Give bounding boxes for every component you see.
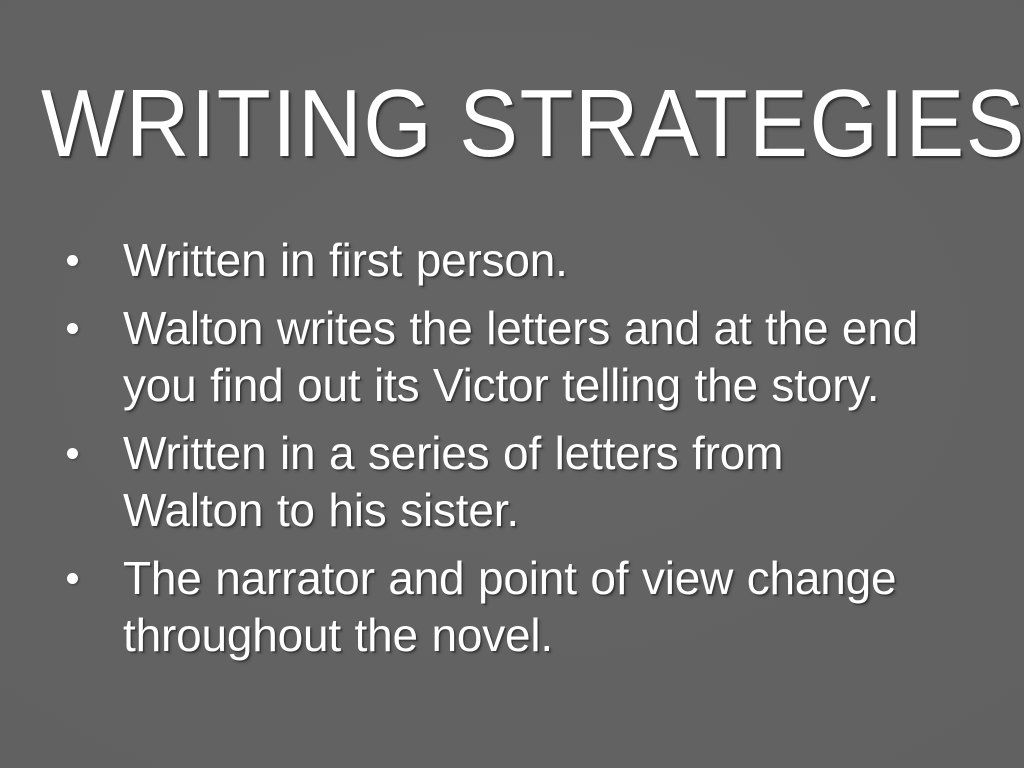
- page-title: WRITING STRATEGIES: [41, 68, 983, 180]
- presentation-slide: WRITING STRATEGIES Written in first pers…: [0, 0, 1024, 768]
- list-item-text: Written in a series of letters from Walt…: [123, 425, 923, 539]
- list-item: Written in first person.: [60, 232, 923, 289]
- bullet-point-icon: [67, 448, 78, 459]
- bullet-point-icon: [67, 323, 78, 334]
- bullet-point-icon: [67, 573, 78, 584]
- list-item: Walton writes the letters and at the end…: [60, 300, 923, 414]
- list-item-text: The narrator and point of view change th…: [123, 550, 923, 664]
- list-item-text: Walton writes the letters and at the end…: [123, 300, 923, 414]
- bullet-point-icon: [67, 255, 78, 266]
- list-item-text: Written in first person.: [123, 232, 923, 289]
- bullet-list: Written in first person. Walton writes t…: [60, 232, 950, 664]
- list-item: The narrator and point of view change th…: [60, 550, 923, 664]
- list-item: Written in a series of letters from Walt…: [60, 425, 923, 539]
